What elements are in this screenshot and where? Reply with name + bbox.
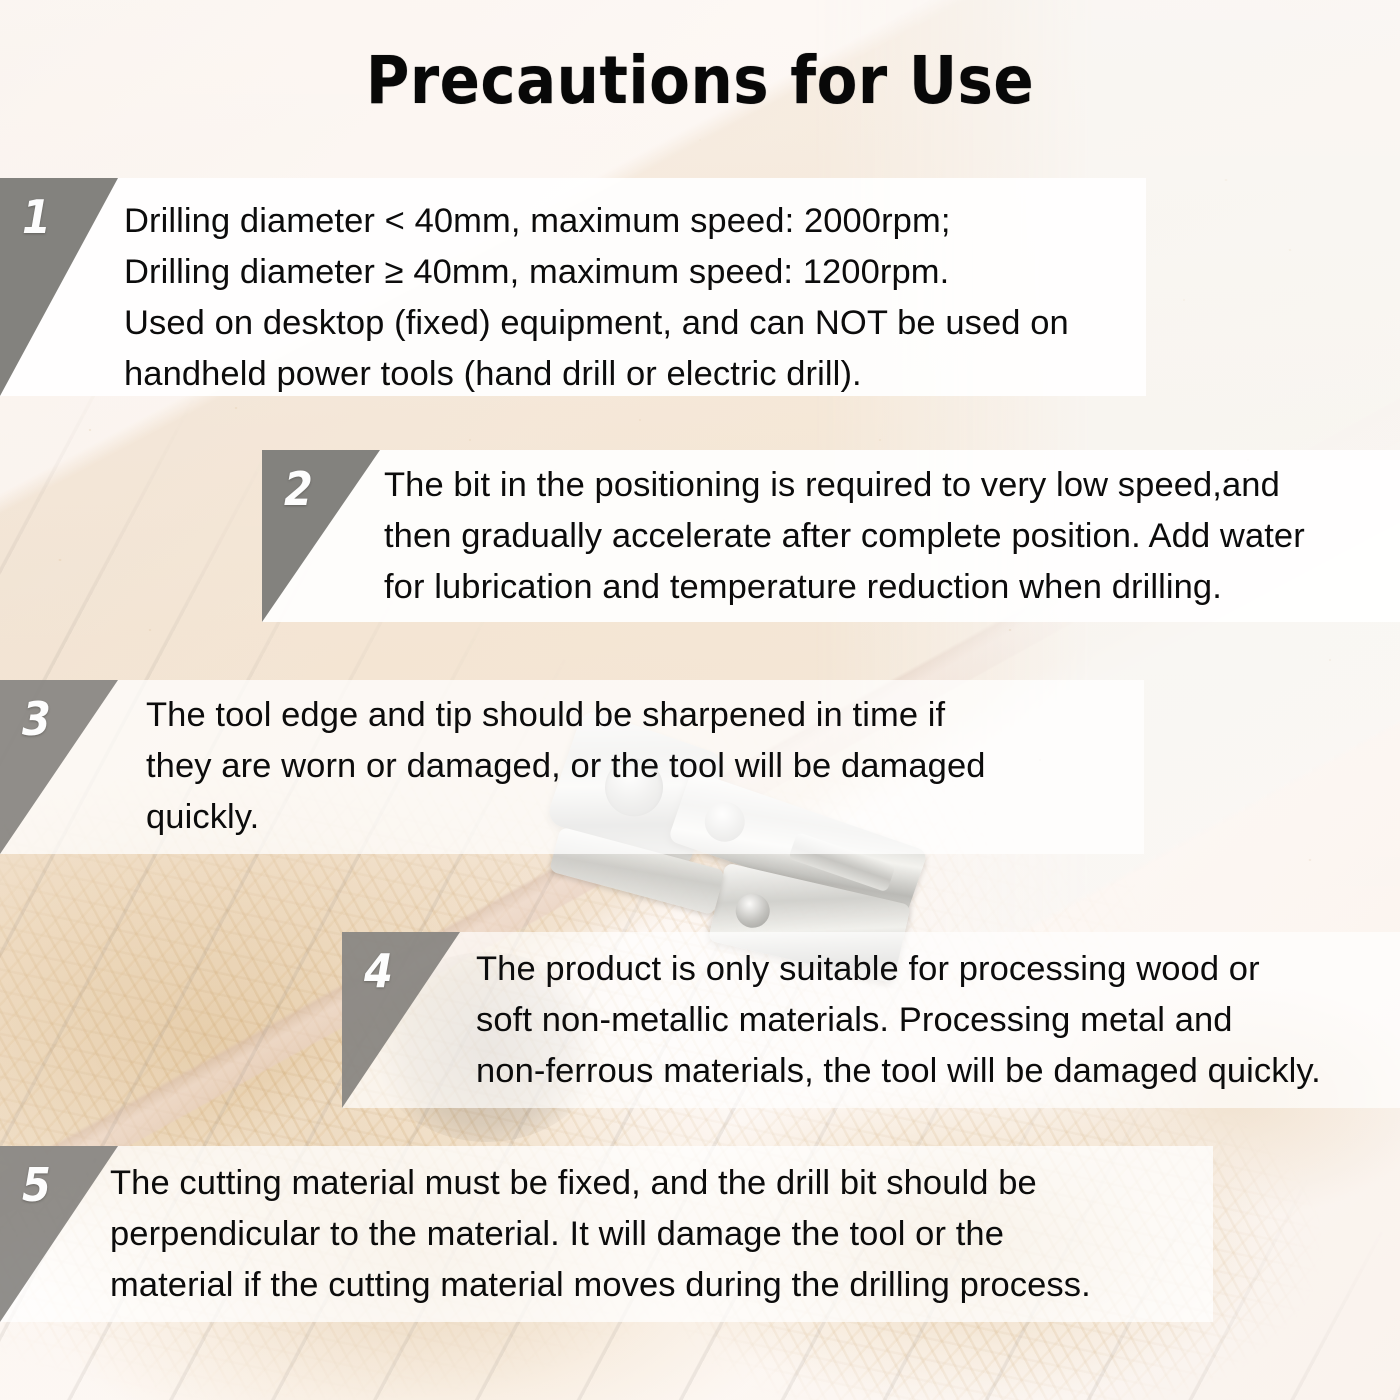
- infographic-stage: Precautions for Use 1 Drilling diameter …: [0, 0, 1400, 1400]
- precaution-text-4: The product is only suitable for process…: [476, 944, 1396, 1097]
- precaution-item-5: 5 The cutting material must be fixed, an…: [0, 1146, 1213, 1322]
- precaution-number-4: 4: [364, 948, 393, 994]
- precaution-number-5: 5: [22, 1162, 51, 1208]
- precaution-text-5: The cutting material must be fixed, and …: [110, 1158, 1205, 1311]
- precaution-text-3: The tool edge and tip should be sharpene…: [146, 690, 1136, 843]
- precaution-item-1: 1 Drilling diameter < 40mm, maximum spee…: [0, 178, 1146, 396]
- precaution-item-3: 3 The tool edge and tip should be sharpe…: [0, 680, 1144, 854]
- precaution-number-1: 1: [22, 194, 51, 240]
- precaution-number-2: 2: [284, 466, 313, 512]
- precaution-text-2: The bit in the positioning is required t…: [384, 460, 1394, 613]
- precaution-text-1: Drilling diameter < 40mm, maximum speed:…: [124, 196, 1134, 400]
- precaution-item-2: 2 The bit in the positioning is required…: [262, 450, 1400, 622]
- precaution-item-4: 4 The product is only suitable for proce…: [342, 932, 1400, 1108]
- precaution-number-3: 3: [22, 696, 51, 742]
- page-title: Precautions for Use: [0, 42, 1400, 119]
